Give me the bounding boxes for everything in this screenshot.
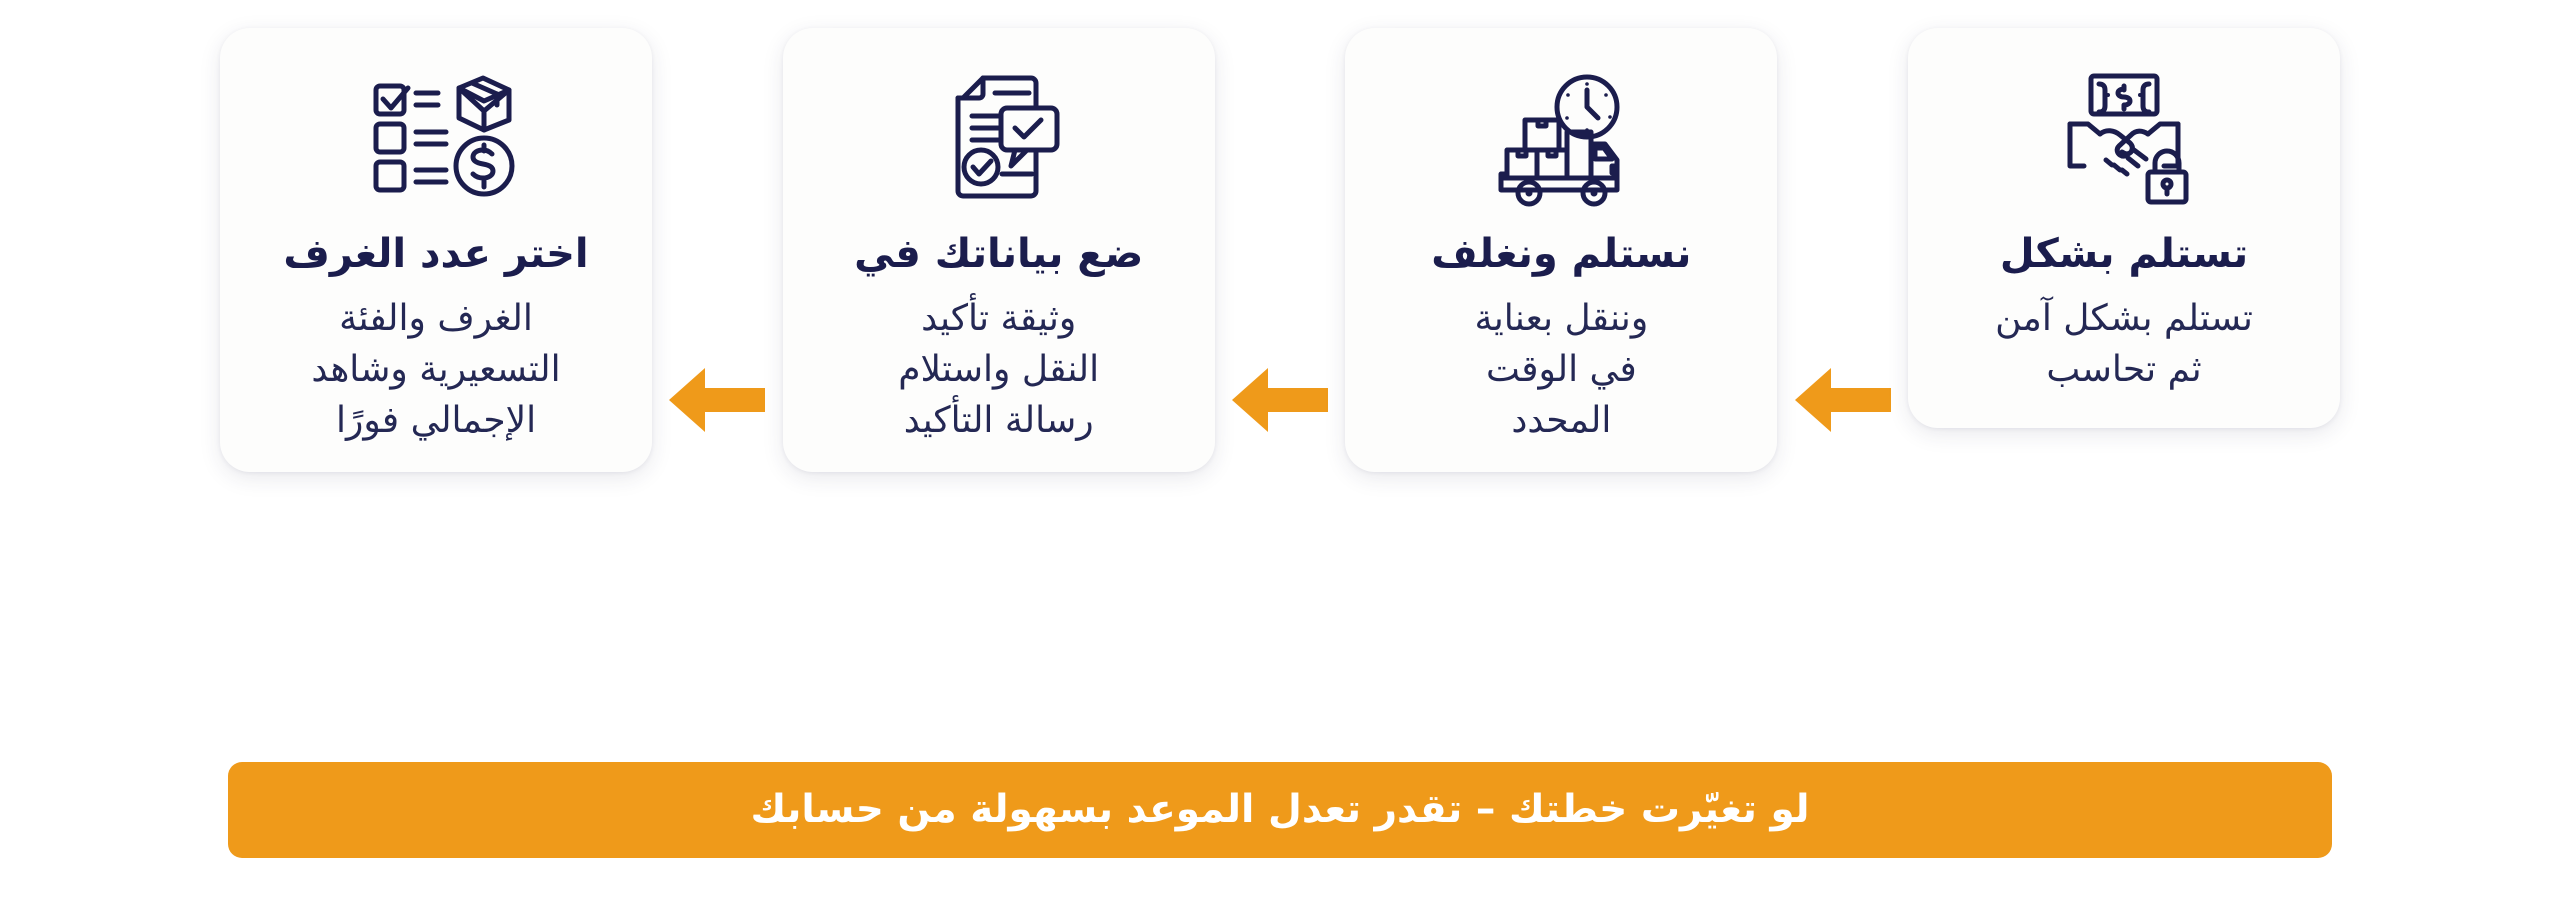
step-body: وننقل بعنايةفي الوقتالمحدد <box>1474 293 1648 446</box>
arrow-left-2 <box>1226 200 1334 600</box>
steps-row: تستلم بشكل تستلم بشكل آمنثم تحاسب <box>220 28 2340 438</box>
banner-text: لو تغيّرت خطتك – تقدر تعدل الموعد بسهولة… <box>750 787 1809 834</box>
process-steps-infographic: تستلم بشكل تستلم بشكل آمنثم تحاسب <box>0 0 2560 908</box>
step-card-receive-secure[interactable]: تستلم بشكل تستلم بشكل آمنثم تحاسب <box>1908 28 2340 428</box>
step-body: الغرف والفئةالتسعيرية وشاهدالإجمالي فورً… <box>311 293 560 446</box>
step-card-enter-data[interactable]: ضع بياناتك في وثيقة تأكيدالنقل واستلامرس… <box>783 28 1215 472</box>
handshake-money-lock-icon <box>2044 62 2204 212</box>
arrow-left-1 <box>663 200 771 600</box>
delivery-truck-boxes-clock-icon <box>1481 62 1641 212</box>
step-title: اختر عدد الغرف <box>283 230 588 279</box>
step-body: وثيقة تأكيدالنقل واستلامرسالة التأكيد <box>898 293 1099 446</box>
plan-change-banner[interactable]: لو تغيّرت خطتك – تقدر تعدل الموعد بسهولة… <box>228 762 2332 858</box>
step-card-choose-rooms[interactable]: اختر عدد الغرف الغرف والفئةالتسعيرية وشا… <box>220 28 652 472</box>
step-body: تستلم بشكل آمنثم تحاسب <box>1995 293 2253 395</box>
arrow-left-3 <box>1789 200 1897 600</box>
step-title: نستلم ونغلف <box>1431 230 1691 279</box>
document-confirmation-check-icon <box>919 62 1079 212</box>
step-title: ضع بياناتك في <box>854 230 1143 279</box>
step-card-pack-deliver[interactable]: نستلم ونغلف وننقل بعنايةفي الوقتالمحدد <box>1345 28 1777 472</box>
step-title: تستلم بشكل <box>2000 230 2248 279</box>
checklist-box-coin-icon <box>356 62 516 212</box>
